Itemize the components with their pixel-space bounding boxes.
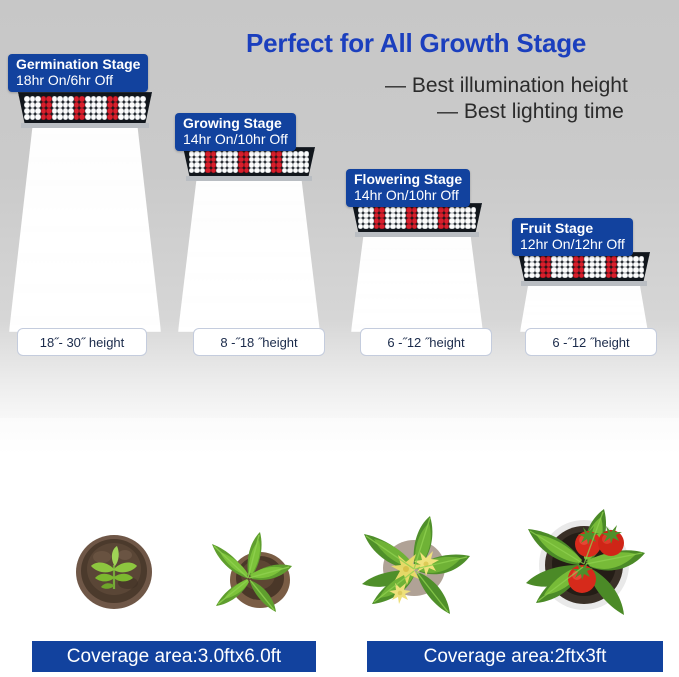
led-panel-base — [21, 123, 150, 128]
led-red — [540, 273, 545, 279]
stage-schedule: 14hr On/10hr Off — [183, 132, 288, 148]
light-beam-germination — [9, 122, 161, 332]
led-white — [304, 168, 309, 174]
led-white — [265, 162, 270, 168]
led-red — [379, 207, 384, 213]
led-white — [216, 151, 221, 157]
led-white — [227, 168, 232, 174]
led-red — [238, 151, 243, 157]
led-red — [205, 151, 210, 157]
infographic-canvas: Perfect for All Growth Stage — Best illu… — [0, 0, 679, 677]
led-red — [205, 168, 210, 174]
led-white — [471, 207, 476, 213]
page-title: Perfect for All Growth Stage — [246, 28, 586, 59]
led-white — [622, 256, 627, 262]
led-white — [304, 162, 309, 168]
led-white — [422, 224, 427, 230]
led-white — [227, 151, 232, 157]
led-white — [562, 256, 567, 262]
height-label-germination: 18˝- 30˝ height — [17, 328, 147, 356]
led-panel-body — [352, 203, 482, 233]
led-red — [540, 256, 545, 262]
light-beam-fruit — [520, 280, 648, 332]
led-white — [639, 267, 644, 273]
stage-schedule: 12hr On/12hr Off — [520, 237, 625, 253]
led-white — [633, 273, 638, 279]
led-white — [639, 273, 644, 279]
led-red — [406, 218, 411, 224]
fruiting-tomato-plant-icon — [512, 505, 652, 630]
led-panel-body — [183, 147, 315, 177]
led-grid — [354, 205, 480, 231]
led-white — [422, 218, 427, 224]
led-red — [276, 168, 281, 174]
led-white — [465, 207, 470, 213]
led-white — [216, 168, 221, 174]
led-white — [600, 267, 605, 273]
led-red — [438, 218, 443, 224]
led-white — [471, 224, 476, 230]
led-red — [276, 162, 281, 168]
stage-schedule: 18hr On/6hr Off — [16, 73, 140, 89]
led-white — [449, 218, 454, 224]
led-white — [465, 218, 470, 224]
led-white — [633, 267, 638, 273]
stage-name: Growing Stage — [183, 116, 288, 132]
led-white — [562, 267, 567, 273]
young-tomato-plant-icon — [188, 518, 308, 623]
led-white — [600, 256, 605, 262]
led-red — [573, 267, 578, 273]
led-white — [298, 168, 303, 174]
led-white — [287, 151, 292, 157]
led-red — [107, 114, 113, 120]
plant-photo-germination — [62, 525, 167, 615]
led-white — [85, 114, 91, 120]
led-white — [390, 224, 395, 230]
plant-photo-fruit — [512, 505, 652, 630]
led-red — [611, 267, 616, 273]
led-red — [611, 273, 616, 279]
led-white — [363, 207, 368, 213]
led-white — [287, 162, 292, 168]
led-white — [622, 273, 627, 279]
led-red — [46, 114, 52, 120]
led-panel-flowering — [352, 203, 482, 233]
flowering-tomato-plant-icon — [352, 512, 482, 624]
led-red — [438, 207, 443, 213]
subtitle-illumination-height: — Best illumination height — [385, 74, 628, 98]
stage-name: Germination Stage — [16, 57, 140, 73]
led-white — [118, 114, 124, 120]
led-white — [265, 151, 270, 157]
light-beam-flowering — [351, 231, 483, 332]
height-label-flowering: 6 -˝12 ˝height — [360, 328, 492, 356]
height-label-fruit: 6 -˝12 ˝height — [525, 328, 657, 356]
led-white — [449, 224, 454, 230]
led-panel-fruit — [518, 252, 650, 282]
led-white — [600, 273, 605, 279]
led-grid — [20, 94, 150, 122]
led-white — [363, 224, 368, 230]
led-red — [573, 256, 578, 262]
led-red — [238, 162, 243, 168]
led-white — [287, 168, 292, 174]
led-white — [363, 218, 368, 224]
led-red — [276, 151, 281, 157]
led-white — [140, 114, 146, 120]
led-red — [611, 256, 616, 262]
led-white — [622, 267, 627, 273]
led-white — [298, 151, 303, 157]
led-red — [238, 168, 243, 174]
led-panel-base — [521, 281, 648, 286]
led-white — [639, 256, 644, 262]
stage-badge-growing: Growing Stage14hr On/10hr Off — [175, 113, 296, 151]
led-white — [465, 224, 470, 230]
stage-name: Flowering Stage — [354, 172, 462, 188]
light-beam-growing — [178, 175, 320, 332]
led-red — [379, 218, 384, 224]
led-white — [633, 256, 638, 262]
led-white — [422, 207, 427, 213]
led-white — [551, 256, 556, 262]
seedling-in-soil-pod-icon — [62, 525, 167, 615]
led-red — [406, 207, 411, 213]
led-panel-growing — [183, 147, 315, 177]
led-white — [96, 114, 102, 120]
stage-name: Fruit Stage — [520, 221, 625, 237]
led-grid — [520, 254, 648, 280]
stage-schedule: 14hr On/10hr Off — [354, 188, 462, 204]
led-panel-base — [355, 232, 480, 237]
led-panel-base — [186, 176, 313, 181]
led-white — [216, 162, 221, 168]
led-white — [390, 218, 395, 224]
plant-photo-growing — [188, 518, 308, 623]
led-white — [24, 114, 30, 120]
plant-photo-flowering — [352, 512, 482, 624]
stage-badge-fruit: Fruit Stage12hr On/12hr Off — [512, 218, 633, 256]
led-white — [35, 114, 41, 120]
led-white — [551, 273, 556, 279]
stage-badge-germination: Germination Stage18hr On/6hr Off — [8, 54, 148, 92]
led-white — [562, 273, 567, 279]
led-panel-germination — [18, 92, 152, 124]
led-white — [227, 162, 232, 168]
led-white — [471, 218, 476, 224]
led-white — [298, 162, 303, 168]
led-white — [57, 114, 63, 120]
coverage-banner-right: Coverage area:2ftx3ft — [367, 641, 663, 672]
subtitle-lighting-time: — Best lighting time — [437, 100, 624, 124]
coverage-banner-left: Coverage area:3.0ftx6.0ft — [32, 641, 316, 672]
stage-badge-flowering: Flowering Stage14hr On/10hr Off — [346, 169, 470, 207]
led-white — [390, 207, 395, 213]
led-red — [205, 162, 210, 168]
led-white — [551, 267, 556, 273]
led-white — [265, 168, 270, 174]
led-panel-body — [18, 92, 152, 124]
led-red — [406, 224, 411, 230]
led-red — [573, 273, 578, 279]
led-white — [449, 207, 454, 213]
height-label-growing: 8 -˝18 ˝height — [193, 328, 325, 356]
led-panel-body — [518, 252, 650, 282]
led-white — [304, 151, 309, 157]
led-red — [540, 267, 545, 273]
led-grid — [185, 149, 313, 175]
